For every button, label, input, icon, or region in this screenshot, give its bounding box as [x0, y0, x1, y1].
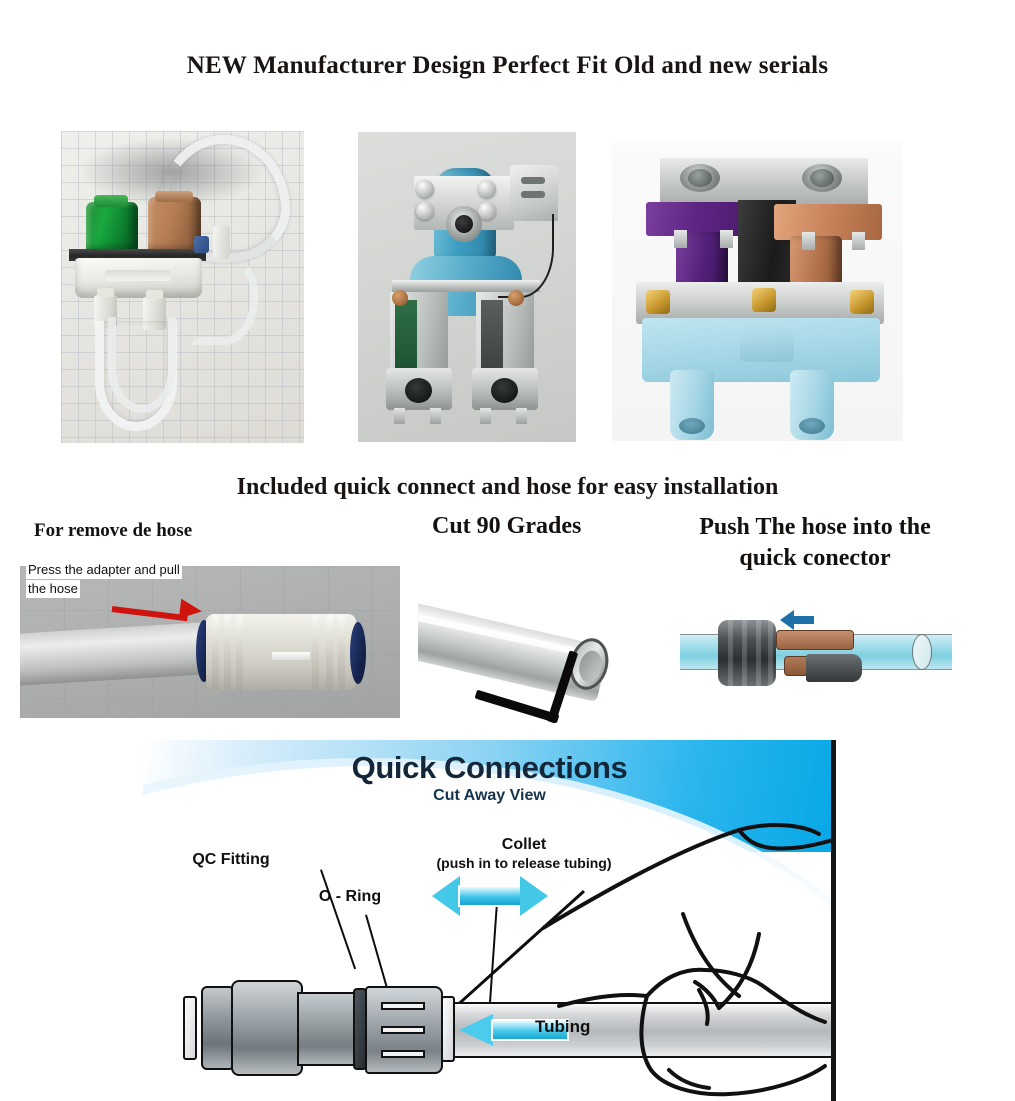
wire-lug: [508, 290, 524, 306]
label-qc-fitting: QC Fitting: [143, 850, 321, 870]
step-label-remove-hose: For remove de hose: [34, 520, 192, 542]
product-photo-valve-green-tan: [61, 131, 304, 443]
valve-spout-right: [790, 370, 834, 440]
terminal-tab: [852, 232, 865, 250]
fitting-rib: [224, 614, 231, 690]
page-title: NEW Manufacturer Design Perfect Fit Old …: [0, 52, 1015, 80]
panel-subtitle: Cut Away View: [143, 787, 836, 805]
fitting-section-b: [231, 980, 303, 1076]
terminal-tab: [802, 232, 815, 250]
product-photo-valve-purple-copper: [612, 142, 903, 441]
solenoid-coil-green: [86, 202, 138, 252]
grip-ring: [806, 654, 862, 682]
blue-cap: [194, 236, 209, 253]
step-label-cut-90: Cut 90 Grades: [432, 513, 581, 540]
hand-illustration: [543, 818, 836, 1101]
screw: [416, 180, 434, 198]
tubing-end: [912, 634, 932, 670]
fitting-rib: [212, 614, 219, 690]
fitting-section-c: [297, 992, 359, 1066]
brass-nut: [752, 288, 776, 312]
valve-center-outlet: [740, 328, 794, 362]
double-arrow-icon: [432, 873, 548, 919]
mounting-bracket: [510, 165, 558, 221]
fitting-rib: [338, 614, 345, 690]
fitting-rib: [236, 614, 243, 690]
photo-tubing-90-degree-cut: [418, 578, 664, 730]
terminal-tabs-right: [472, 408, 538, 424]
hose-loop-lower-2: [108, 317, 176, 413]
side-hose: [190, 257, 258, 345]
grey-tubing: [20, 622, 207, 686]
photo-caption-line-1: Press the adapter and pull: [26, 561, 182, 579]
fitting-section-a: [201, 986, 235, 1070]
valve-top-hole: [680, 164, 720, 192]
terminal-tab: [674, 230, 687, 248]
collet-graphic: [365, 986, 443, 1074]
screw: [416, 202, 434, 220]
collet-oring-right: [350, 622, 366, 684]
terminal-tab: [720, 230, 733, 248]
screw: [478, 180, 496, 198]
qc-fitting-illustration: [183, 974, 493, 1082]
step-label-push-hose: Push The hose into the quick conector: [684, 512, 946, 573]
terminal-tabs-left: [386, 408, 452, 424]
valve-wire: [498, 214, 554, 298]
label-o-ring: O - Ring: [285, 887, 415, 907]
label-collet-title: Collet: [502, 836, 546, 853]
valve-top-hole: [802, 164, 842, 192]
blue-arrow-icon: [780, 610, 814, 630]
collet-upper: [776, 630, 854, 650]
fitting-rib: [312, 614, 319, 690]
valve-body: [75, 258, 202, 298]
fitting-end-cap-left: [183, 996, 197, 1060]
solenoid-coil-copper-top: [774, 204, 882, 240]
wire-lug: [392, 290, 408, 306]
fitting-rib: [326, 614, 333, 690]
brass-nut: [646, 290, 670, 314]
fitting-end-cap-right: [441, 996, 455, 1062]
valve-flange-left: [386, 368, 452, 410]
photo-caption-line-2: the hose: [26, 580, 80, 598]
valve-spout-left: [670, 370, 714, 440]
quick-connections-panel: Quick Connections Cut Away View QC Fitti…: [143, 740, 836, 1101]
section-title: Included quick connect and hose for easy…: [0, 474, 1015, 501]
valve-nipple: [213, 225, 230, 259]
photo-push-in-cutaway: [680, 592, 952, 698]
panel-title: Quick Connections: [143, 750, 836, 786]
brass-nut: [850, 290, 874, 314]
red-arrow-icon: [112, 600, 206, 618]
fitting-waist: [272, 652, 310, 660]
fitting-body: [718, 620, 776, 686]
valve-inlet-port: [446, 206, 482, 242]
valve-flange-right: [472, 368, 538, 410]
product-photo-valve-top-view: [358, 132, 576, 442]
